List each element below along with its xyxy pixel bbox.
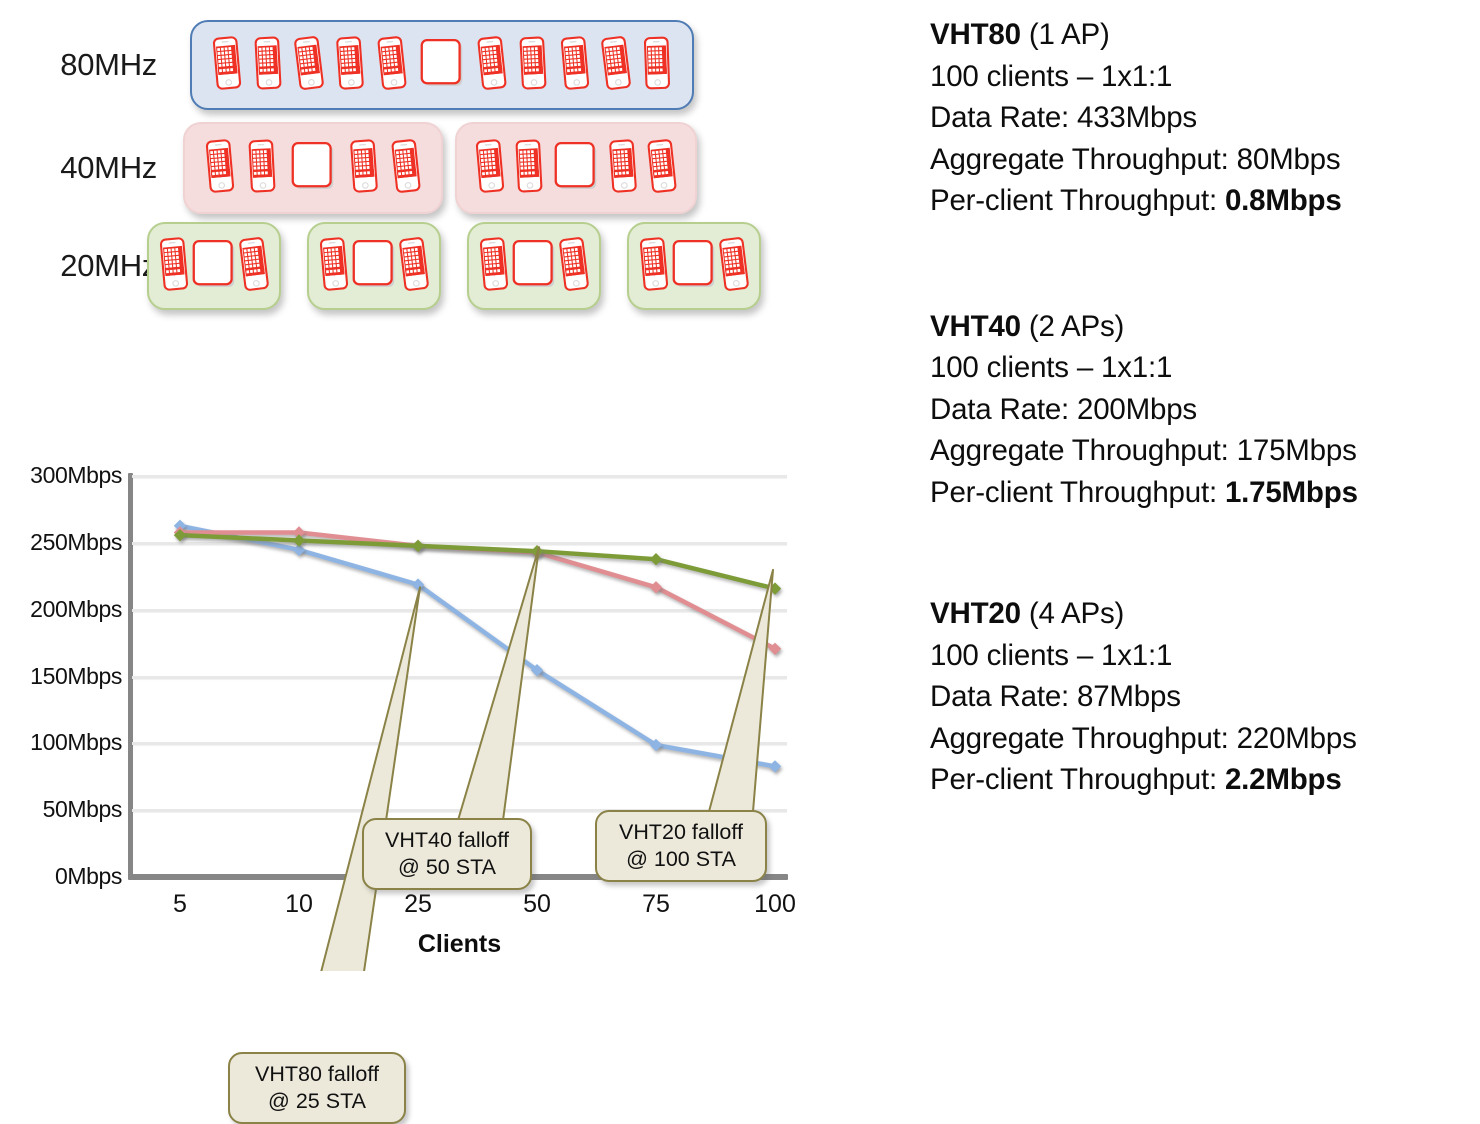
throughput-chart: 0Mbps50Mbps100Mbps150Mbps200Mbps250Mbps3… (0, 400, 830, 971)
channel-row-80mhz: 80MHz (0, 20, 900, 110)
spec-data-rate: Data Rate: 433Mbps (930, 97, 1480, 139)
spec-clients: 100 clients – 1x1:1 (930, 635, 1480, 677)
data-marker-vht20 (412, 540, 424, 552)
y-tick-label: 250Mbps (2, 529, 122, 556)
tablet-icon (512, 239, 556, 294)
phone-icon (241, 235, 267, 298)
y-tick-label: 0Mbps (2, 863, 122, 890)
channel-width-diagram: 80MHz (0, 0, 900, 330)
y-tick-label: 150Mbps (2, 663, 122, 690)
x-axis-labels: 510255075100 (132, 886, 787, 926)
y-tick-label: 200Mbps (2, 596, 122, 623)
channel-group-container (175, 222, 900, 310)
channel-row-40mhz: 40MHz (0, 122, 900, 214)
phone-icon (296, 34, 322, 97)
x-tick-label: 5 (173, 890, 187, 919)
phone-icon (393, 137, 419, 200)
phone-icon (644, 34, 670, 97)
annotation-callout-vht20: VHT20 falloff @ 100 STA (595, 810, 767, 882)
tablet-icon (672, 239, 716, 294)
spec-data-rate: Data Rate: 200Mbps (930, 389, 1480, 431)
spec-title: VHT20 (4 APs) (930, 593, 1480, 635)
y-axis-labels: 0Mbps50Mbps100Mbps150Mbps200Mbps250Mbps3… (0, 400, 122, 890)
phone-icon (321, 235, 347, 298)
x-tick-label: 10 (285, 890, 313, 919)
phone-icon (207, 137, 233, 200)
phone-icon (479, 34, 505, 97)
phone-icon (249, 137, 275, 200)
phone-icon (649, 137, 675, 200)
channel-group-20mhz-3 (467, 222, 601, 310)
tablet-icon (420, 38, 464, 93)
phone-icon (641, 235, 667, 298)
spec-per-client: Per-client Throughput: 0.8Mbps (930, 180, 1480, 222)
spec-per-client: Per-client Throughput: 2.2Mbps (930, 759, 1480, 801)
y-tick-label: 100Mbps (2, 729, 122, 756)
channel-group-80mhz-1 (190, 20, 694, 110)
spec-block-vht40: VHT40 (2 APs)100 clients – 1x1:1Data Rat… (930, 306, 1480, 514)
spec-aggregate: Aggregate Throughput: 220Mbps (930, 718, 1480, 760)
tablet-icon (291, 141, 335, 196)
phone-icon (610, 137, 636, 200)
phone-icon (520, 34, 546, 97)
phone-icon (603, 34, 629, 97)
phone-icon (351, 137, 377, 200)
channel-group-container (175, 20, 900, 110)
annotation-callout-vht80: VHT80 falloff @ 25 STA (228, 1052, 406, 1124)
phone-icon (481, 235, 507, 298)
phone-icon (561, 235, 587, 298)
x-tick-label: 100 (754, 890, 796, 919)
y-tick-label: 300Mbps (2, 462, 122, 489)
x-tick-label: 25 (404, 890, 432, 919)
spec-clients: 100 clients – 1x1:1 (930, 347, 1480, 389)
spec-block-vht20: VHT20 (4 APs)100 clients – 1x1:1Data Rat… (930, 593, 1480, 801)
channel-group-20mhz-4 (627, 222, 761, 310)
spec-spacer (930, 513, 1480, 593)
phone-icon (516, 137, 542, 200)
tablet-icon (554, 141, 598, 196)
phone-icon (379, 34, 405, 97)
spec-block-vht80: VHT80 (1 AP)100 clients – 1x1:1Data Rate… (930, 14, 1480, 222)
spec-aggregate: Aggregate Throughput: 175Mbps (930, 430, 1480, 472)
spec-title: VHT40 (2 APs) (930, 306, 1480, 348)
spec-aggregate: Aggregate Throughput: 80Mbps (930, 139, 1480, 181)
series-line-vht80 (180, 526, 775, 767)
channel-group-20mhz-2 (307, 222, 441, 310)
annotation-callout-vht40: VHT40 falloff @ 50 STA (362, 818, 532, 890)
data-marker-vht20 (769, 582, 781, 594)
channel-group-container (175, 122, 900, 214)
channel-row-20mhz: 20MHz (0, 222, 900, 310)
phone-icon (477, 137, 503, 200)
phone-icon (161, 235, 187, 298)
phone-icon (401, 235, 427, 298)
phone-icon (255, 34, 281, 97)
spec-per-client: Per-client Throughput: 1.75Mbps (930, 472, 1480, 514)
spec-data-rate: Data Rate: 87Mbps (930, 676, 1480, 718)
phone-icon (562, 34, 588, 97)
x-tick-label: 75 (642, 890, 670, 919)
phone-icon (721, 235, 747, 298)
spec-clients: 100 clients – 1x1:1 (930, 56, 1480, 98)
channel-group-40mhz-2 (455, 122, 697, 214)
data-marker-vht20 (293, 534, 305, 546)
tablet-icon (192, 239, 236, 294)
spec-title: VHT80 (1 AP) (930, 14, 1480, 56)
channel-group-40mhz-1 (183, 122, 443, 214)
channel-group-20mhz-1 (147, 222, 281, 310)
channel-row-label: 40MHz (0, 150, 175, 186)
x-tick-label: 50 (523, 890, 551, 919)
spec-panel: VHT80 (1 AP)100 clients – 1x1:1Data Rate… (930, 14, 1480, 801)
channel-row-label: 80MHz (0, 47, 175, 83)
phone-icon (337, 34, 363, 97)
tablet-icon (352, 239, 396, 294)
phone-icon (214, 34, 240, 97)
data-marker-vht20 (650, 553, 662, 565)
x-axis-title: Clients (132, 930, 787, 959)
y-tick-label: 50Mbps (2, 796, 122, 823)
data-marker-vht80 (769, 760, 781, 772)
spec-spacer (930, 222, 1480, 306)
